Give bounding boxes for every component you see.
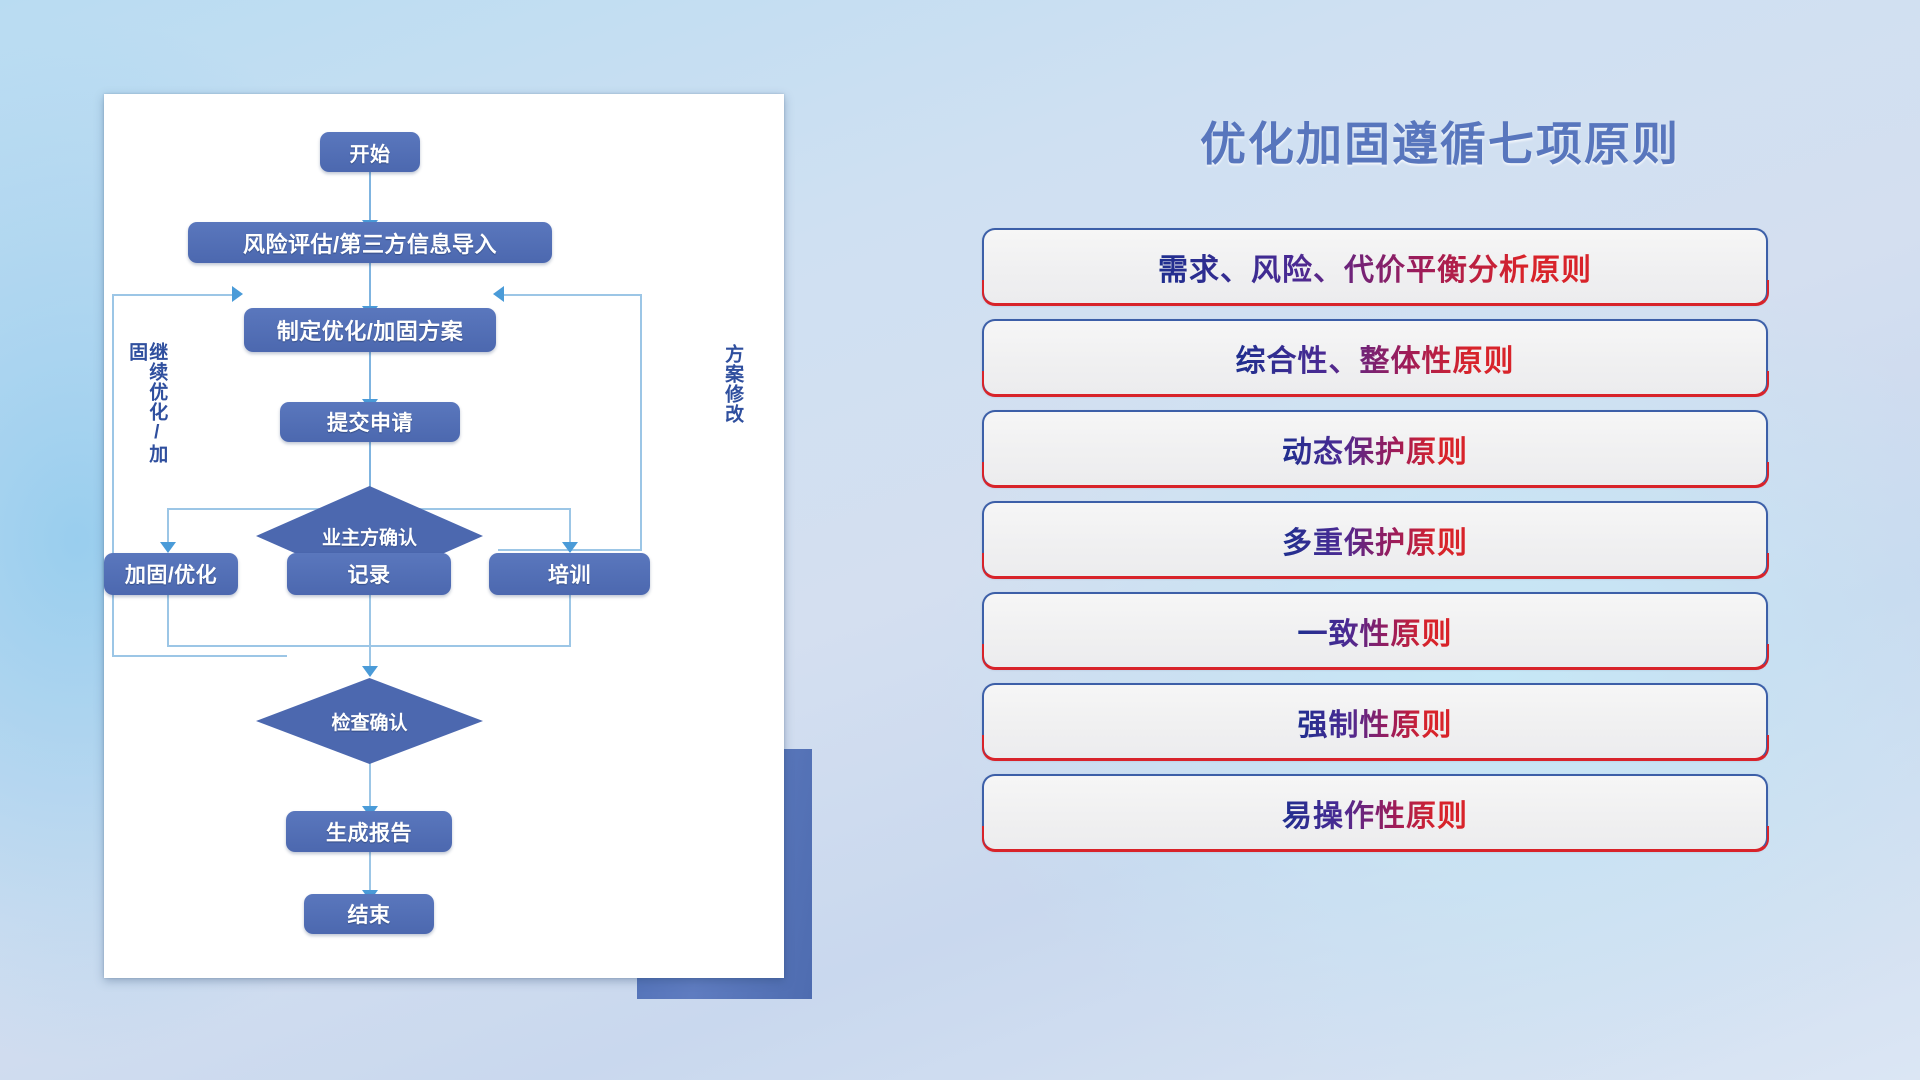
edge-branch-left-drop xyxy=(167,508,169,544)
node-generate-report[interactable]: 生成报告 xyxy=(286,811,452,852)
edge-branch-right-drop xyxy=(569,508,571,544)
principles-panel: 优化加固遵循七项原则 需求、风险、代价平衡分析原则 综合性、整体性原则 动态保护… xyxy=(960,0,1920,1080)
principle-item[interactable]: 强制性原则 xyxy=(982,683,1768,760)
edge-risk-plan xyxy=(369,262,371,308)
edge-check-report xyxy=(369,763,371,811)
principle-item[interactable]: 多重保护原则 xyxy=(982,501,1768,578)
panel-title: 优化加固遵循七项原则 xyxy=(960,108,1920,174)
edge-left-up xyxy=(112,294,114,656)
node-end[interactable]: 结束 xyxy=(304,894,434,934)
principle-item[interactable]: 动态保护原则 xyxy=(982,410,1768,487)
edge-label-plan-revision: 方案修改 xyxy=(722,344,742,462)
principle-item[interactable]: 综合性、整体性原则 xyxy=(982,319,1768,396)
node-reinforce-optimize[interactable]: 加固/优化 xyxy=(104,553,238,595)
edge-right-up xyxy=(640,294,642,550)
principle-label: 综合性、整体性原则 xyxy=(1236,336,1515,380)
edge-right-into-plan xyxy=(504,294,641,296)
node-make-plan[interactable]: 制定优化/加固方案 xyxy=(244,308,496,352)
principle-label: 需求、风险、代价平衡分析原则 xyxy=(1158,245,1592,289)
edge-plan-submit xyxy=(369,352,371,402)
arrowhead-to-reinforce xyxy=(160,542,176,553)
arrowhead-left-into-plan xyxy=(232,286,243,302)
node-start[interactable]: 开始 xyxy=(320,132,420,172)
principle-label: 动态保护原则 xyxy=(1282,427,1468,471)
principle-label: 易操作性原则 xyxy=(1282,791,1468,835)
principle-item[interactable]: 需求、风险、代价平衡分析原则 xyxy=(982,228,1768,305)
principle-label: 多重保护原则 xyxy=(1282,518,1468,562)
edge-report-end xyxy=(369,852,371,894)
node-record[interactable]: 记录 xyxy=(287,553,451,595)
edge-training-down xyxy=(569,595,571,647)
flowchart-canvas: 继续优化/加固 方案修改 开始 风险评估/第三方信息导入 制定优化/加固方案 提… xyxy=(104,94,784,978)
node-owner-confirm-label: 业主方确认 xyxy=(322,523,417,550)
edge-check-left xyxy=(112,655,287,657)
principle-label: 强制性原则 xyxy=(1298,700,1453,744)
principle-label: 一致性原则 xyxy=(1298,609,1453,653)
arrowhead-right-into-plan xyxy=(493,286,504,302)
node-risk-assessment[interactable]: 风险评估/第三方信息导入 xyxy=(188,222,552,263)
edge-left-into-plan xyxy=(112,294,234,296)
edge-reinforce-down xyxy=(167,595,169,647)
node-check-confirm-label: 检查确认 xyxy=(331,708,407,735)
node-training[interactable]: 培训 xyxy=(489,553,650,595)
flowchart-card: 继续优化/加固 方案修改 开始 风险评估/第三方信息导入 制定优化/加固方案 提… xyxy=(104,94,784,978)
edge-record-to-check xyxy=(369,595,371,671)
edge-label-continue-optimize: 继续优化/加固 xyxy=(126,342,166,482)
flowchart-panel: 继续优化/加固 方案修改 开始 风险评估/第三方信息导入 制定优化/加固方案 提… xyxy=(0,0,900,1080)
principles-list: 需求、风险、代价平衡分析原则 综合性、整体性原则 动态保护原则 多重保护原则 一… xyxy=(982,228,1782,865)
arrowhead-merge-check xyxy=(362,666,378,677)
principle-item[interactable]: 易操作性原则 xyxy=(982,774,1768,851)
arrowhead-to-training xyxy=(562,542,578,553)
edge-start-risk xyxy=(369,171,371,223)
node-check-confirm[interactable]: 检查确认 xyxy=(256,678,483,764)
node-submit-application[interactable]: 提交申请 xyxy=(280,402,460,442)
principle-item[interactable]: 一致性原则 xyxy=(982,592,1768,669)
